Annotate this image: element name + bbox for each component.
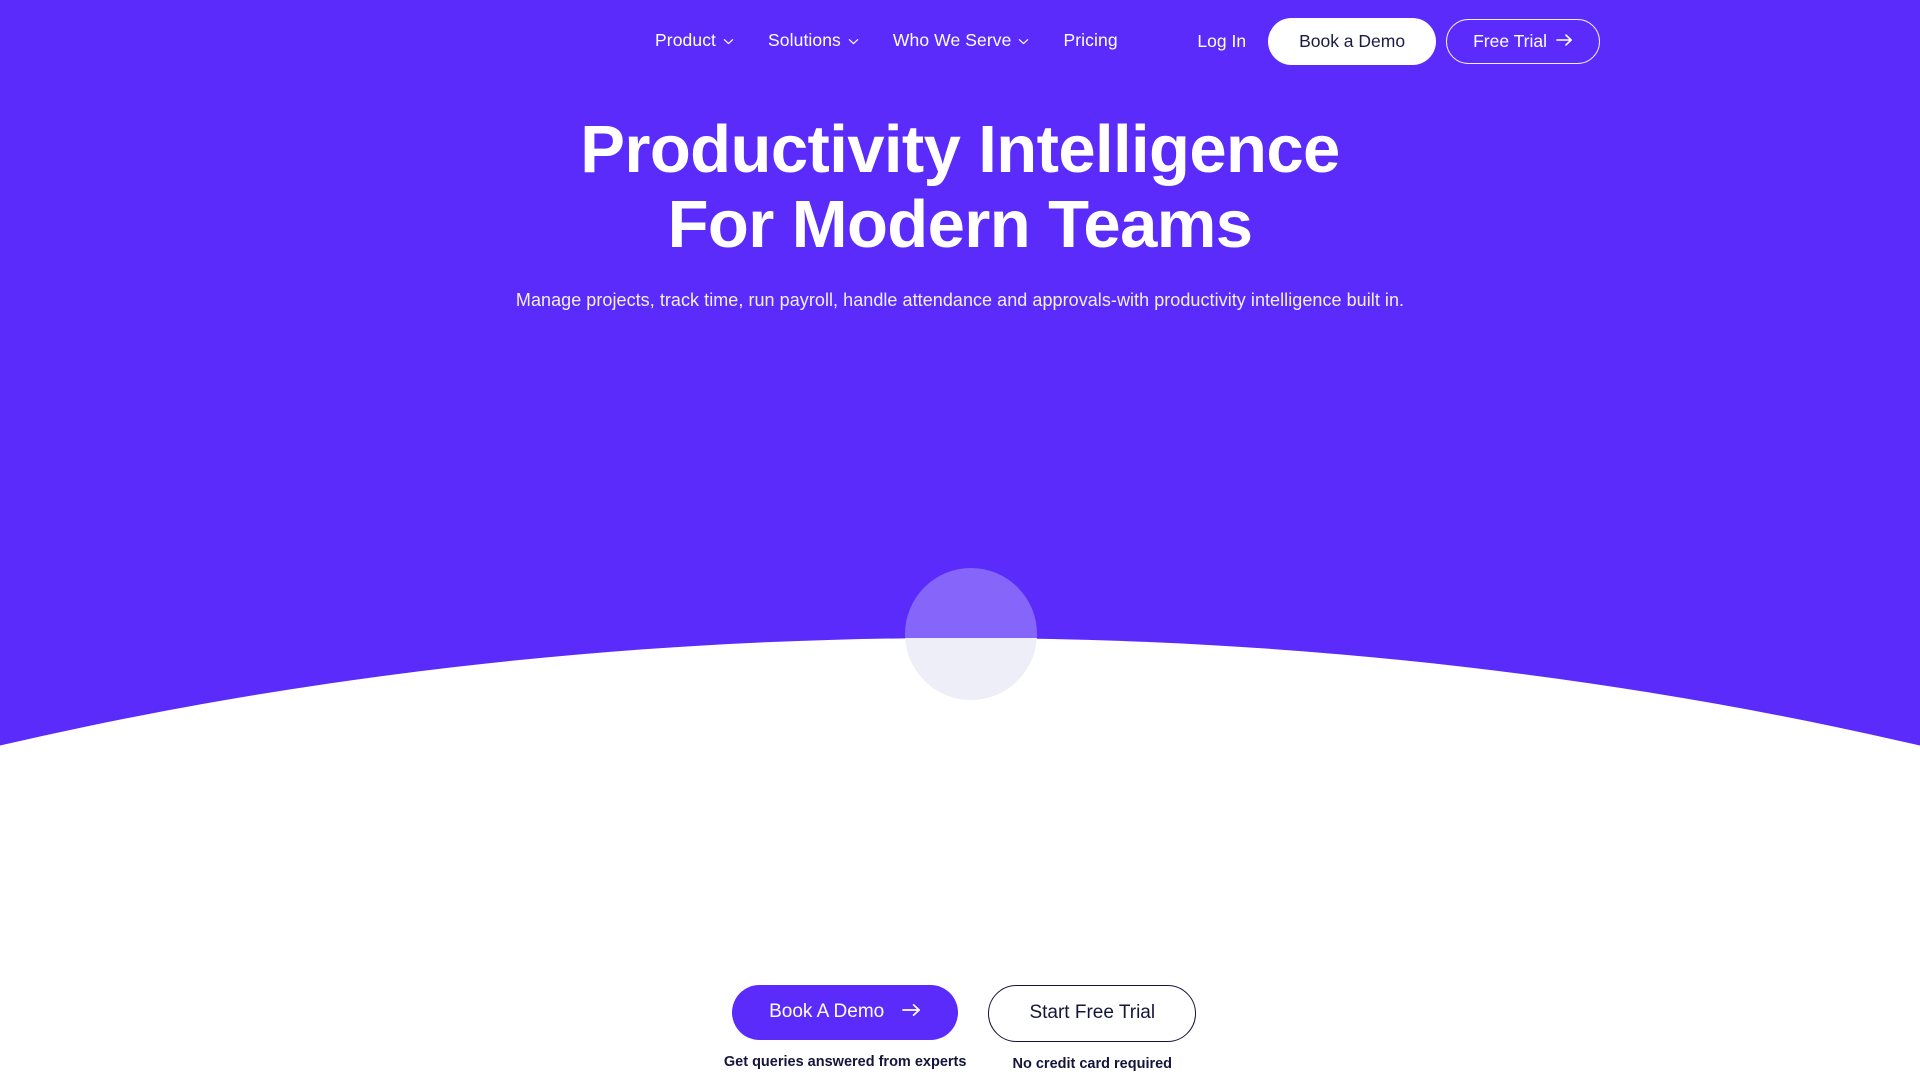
arrow-right-icon	[1556, 32, 1573, 51]
nav-item-pricing[interactable]: Pricing	[1063, 30, 1117, 51]
arrow-right-icon	[902, 1002, 921, 1023]
login-link[interactable]: Log In	[1197, 33, 1246, 51]
free-trial-button-nav[interactable]: Free Trial	[1446, 19, 1600, 64]
nav-item-who-we-serve[interactable]: Who We Serve	[893, 30, 1030, 51]
start-free-trial-button[interactable]: Start Free Trial	[988, 985, 1196, 1042]
nav-item-label: Solutions	[768, 30, 841, 51]
hero-heading-line-2: For Modern Teams	[0, 187, 1920, 262]
nav-item-label: Who We Serve	[893, 30, 1012, 51]
chevron-down-icon	[1018, 36, 1029, 47]
nav-actions: Log In Book a Demo Free Trial	[1197, 18, 1600, 65]
nav-item-label: Pricing	[1063, 30, 1117, 51]
free-trial-label: Free Trial	[1473, 32, 1547, 51]
hero-heading-line-1: Productivity Intelligence	[580, 112, 1339, 187]
cta-secondary-group: Start Free Trial No credit card required	[988, 985, 1196, 1072]
nav-menu: Product Solutions Who We Serve	[655, 30, 1118, 51]
page-title: Productivity Intelligence For Modern Tea…	[0, 112, 1920, 262]
landing-page-hero: Product Solutions Who We Serve	[0, 0, 1920, 1080]
chevron-down-icon	[723, 36, 734, 47]
cta-primary-group: Book A Demo Get queries answered from ex…	[724, 985, 967, 1070]
nav-item-product[interactable]: Product	[655, 30, 734, 51]
chevron-down-icon	[848, 36, 859, 47]
start-free-trial-note: No credit card required	[1013, 1056, 1173, 1072]
book-a-demo-note: Get queries answered from experts	[724, 1054, 967, 1070]
hero-section: Productivity Intelligence For Modern Tea…	[0, 112, 1920, 311]
nav-item-solutions[interactable]: Solutions	[768, 30, 859, 51]
nav-item-label: Product	[655, 30, 716, 51]
hero-subtitle: Manage projects, track time, run payroll…	[0, 290, 1920, 311]
book-a-demo-label: Book A Demo	[769, 1002, 884, 1023]
top-navigation-bar: Product Solutions Who We Serve	[0, 0, 1920, 92]
book-a-demo-button[interactable]: Book A Demo	[732, 985, 958, 1040]
book-demo-button-nav[interactable]: Book a Demo	[1268, 18, 1436, 65]
cta-section: Book A Demo Get queries answered from ex…	[0, 985, 1920, 1072]
